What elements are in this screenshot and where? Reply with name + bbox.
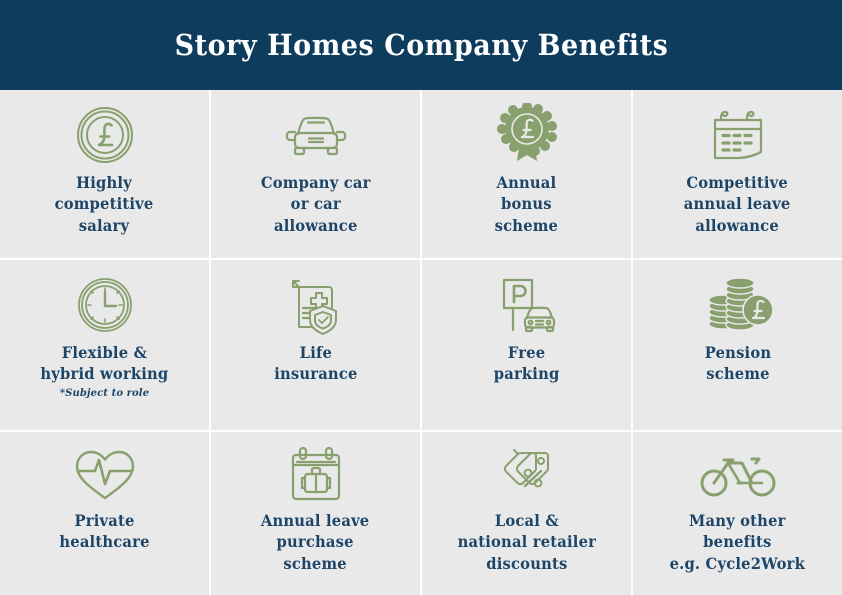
benefit-label: Many other benefits e.g. Cycle2Work <box>670 510 805 574</box>
insurance-document-shield-icon <box>285 272 347 338</box>
benefit-cell-life-insurance: Life insurance <box>211 260 420 430</box>
benefit-label: Free parking <box>494 342 560 385</box>
benefit-label: Private healthcare <box>59 510 149 553</box>
car-icon <box>281 102 351 168</box>
price-tags-percent-icon <box>496 444 558 506</box>
benefit-cell-other-benefits: Many other benefits e.g. Cycle2Work <box>633 432 842 595</box>
benefit-cell-flexible-working: Flexible & hybrid working *Subject to ro… <box>0 260 209 430</box>
benefit-label: Company car or car allowance <box>261 172 371 236</box>
benefit-note: *Subject to role <box>60 388 149 400</box>
benefit-cell-private-healthcare: Private healthcare <box>0 432 209 595</box>
benefit-cell-free-parking: Free parking <box>422 260 631 430</box>
benefit-label: Life insurance <box>274 342 357 385</box>
page-header: Story Homes Company Benefits <box>0 0 842 90</box>
benefit-cell-pension: Pension scheme <box>633 260 842 430</box>
benefit-label: Annual bonus scheme <box>495 172 558 236</box>
benefit-cell-company-car: Company car or car allowance <box>211 90 420 258</box>
benefit-label: Annual leave purchase scheme <box>261 510 370 574</box>
pound-coin-icon <box>74 102 136 168</box>
benefit-cell-annual-leave: Competitive annual leave allowance <box>633 90 842 258</box>
benefit-label: Pension scheme <box>704 342 771 385</box>
award-rosette-pound-icon <box>497 102 557 168</box>
bicycle-icon <box>700 444 776 506</box>
clock-icon <box>76 272 134 338</box>
coin-stacks-pound-icon <box>702 272 774 338</box>
calendar-suitcase-icon <box>285 444 347 506</box>
benefit-label: Flexible & hybrid working <box>40 342 168 385</box>
heart-pulse-icon <box>72 444 138 506</box>
benefits-infographic: Story Homes Company Benefits Highly comp… <box>0 0 842 595</box>
benefit-cell-salary: Highly competitive salary <box>0 90 209 258</box>
benefit-cell-annual-bonus: Annual bonus scheme <box>422 90 631 258</box>
benefit-cell-retailer-discounts: Local & national retailer discounts <box>422 432 631 595</box>
parking-sign-car-icon <box>496 272 558 338</box>
benefits-grid: Highly competitive salary Company car or… <box>0 90 842 595</box>
benefit-label: Highly competitive salary <box>55 172 154 236</box>
benefit-label: Competitive annual leave allowance <box>684 172 791 236</box>
calendar-icon <box>707 102 769 168</box>
benefit-label: Local & national retailer discounts <box>457 510 595 574</box>
page-title: Story Homes Company Benefits <box>174 31 668 60</box>
benefit-cell-leave-purchase: Annual leave purchase scheme <box>211 432 420 595</box>
